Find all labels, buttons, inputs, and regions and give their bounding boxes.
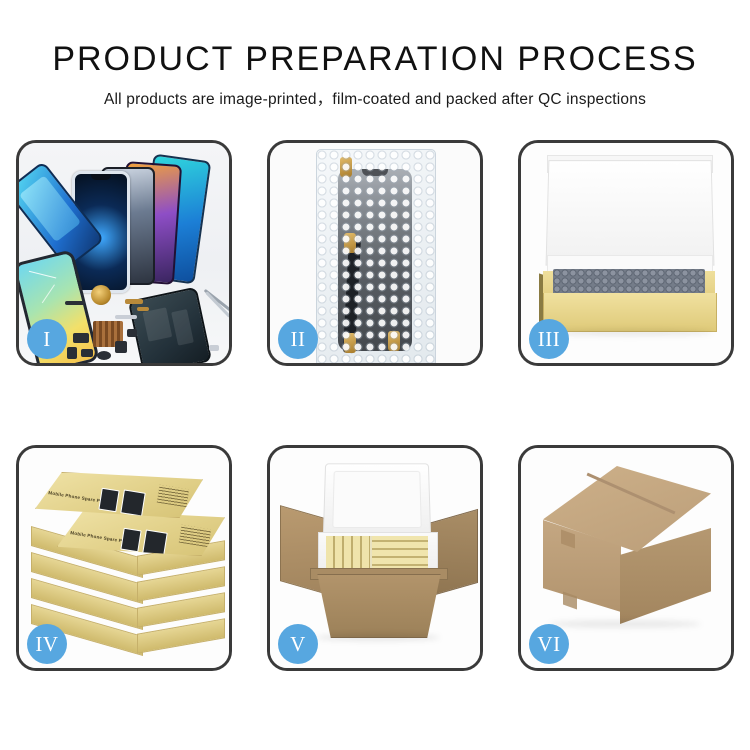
step-panel-1: I: [16, 140, 232, 366]
step-panel-2: II: [267, 140, 483, 366]
page-title: PRODUCT PREPARATION PROCESS: [0, 40, 750, 78]
carton-body: [312, 574, 446, 638]
step-badge-1: I: [27, 319, 67, 359]
step-panel-3: III: [518, 140, 734, 366]
page-subtitle: All products are image-printed，film-coat…: [0, 90, 750, 109]
step-badge-5: V: [278, 624, 318, 664]
step-badge-3: III: [529, 319, 569, 359]
speaker-coil-icon: [91, 285, 111, 305]
foam-lid-icon: [546, 160, 715, 265]
kraft-boxes-inside: [326, 536, 428, 572]
process-steps-grid: I II: [0, 138, 750, 698]
step-panel-4: Mobile Phone Spare Parts Mobile Phone Sp…: [16, 445, 232, 671]
bubble-wrap-bag-icon: [316, 149, 436, 363]
product-preparation-infographic: PRODUCT PREPARATION PROCESS All products…: [0, 0, 750, 750]
step-panel-5: V: [267, 445, 483, 671]
step-badge-4: IV: [27, 624, 67, 664]
step-badge-6: VI: [529, 624, 569, 664]
step-panel-6: VI: [518, 445, 734, 671]
foam-lid-icon: [323, 463, 431, 536]
kraft-box-front: [543, 293, 717, 332]
header: PRODUCT PREPARATION PROCESS All products…: [0, 0, 750, 109]
step-badge-2: II: [278, 319, 318, 359]
